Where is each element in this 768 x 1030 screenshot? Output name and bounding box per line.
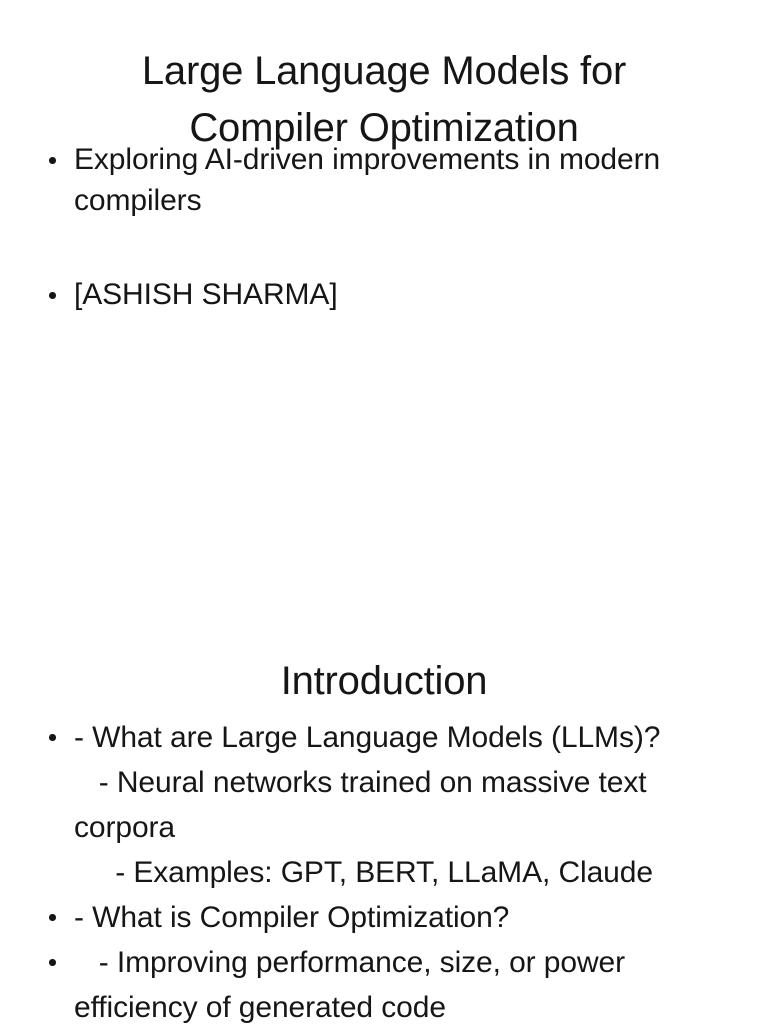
introduction-bullet-list: - What are Large Language Models (LLMs)?… <box>46 715 726 1030</box>
list-item: - What are Large Language Models (LLMs)?… <box>46 715 726 895</box>
list-item: [ASHISH SHARMA] <box>46 274 718 315</box>
list-item: - What is Compiler Optimization? <box>46 895 726 940</box>
title-slide-bullet-list: Exploring AI-driven improvements in mode… <box>46 139 718 315</box>
title-slide: Large Language Models for Compiler Optim… <box>0 0 768 600</box>
slide-document-page: Large Language Models for Compiler Optim… <box>0 0 768 1024</box>
introduction-slide: Introduction - What are Large Language M… <box>0 600 768 1024</box>
list-item: - Improving performance, size, or power … <box>46 940 726 1030</box>
section-heading: Introduction <box>60 655 708 707</box>
list-item: Exploring AI-driven improvements in mode… <box>46 139 718 221</box>
